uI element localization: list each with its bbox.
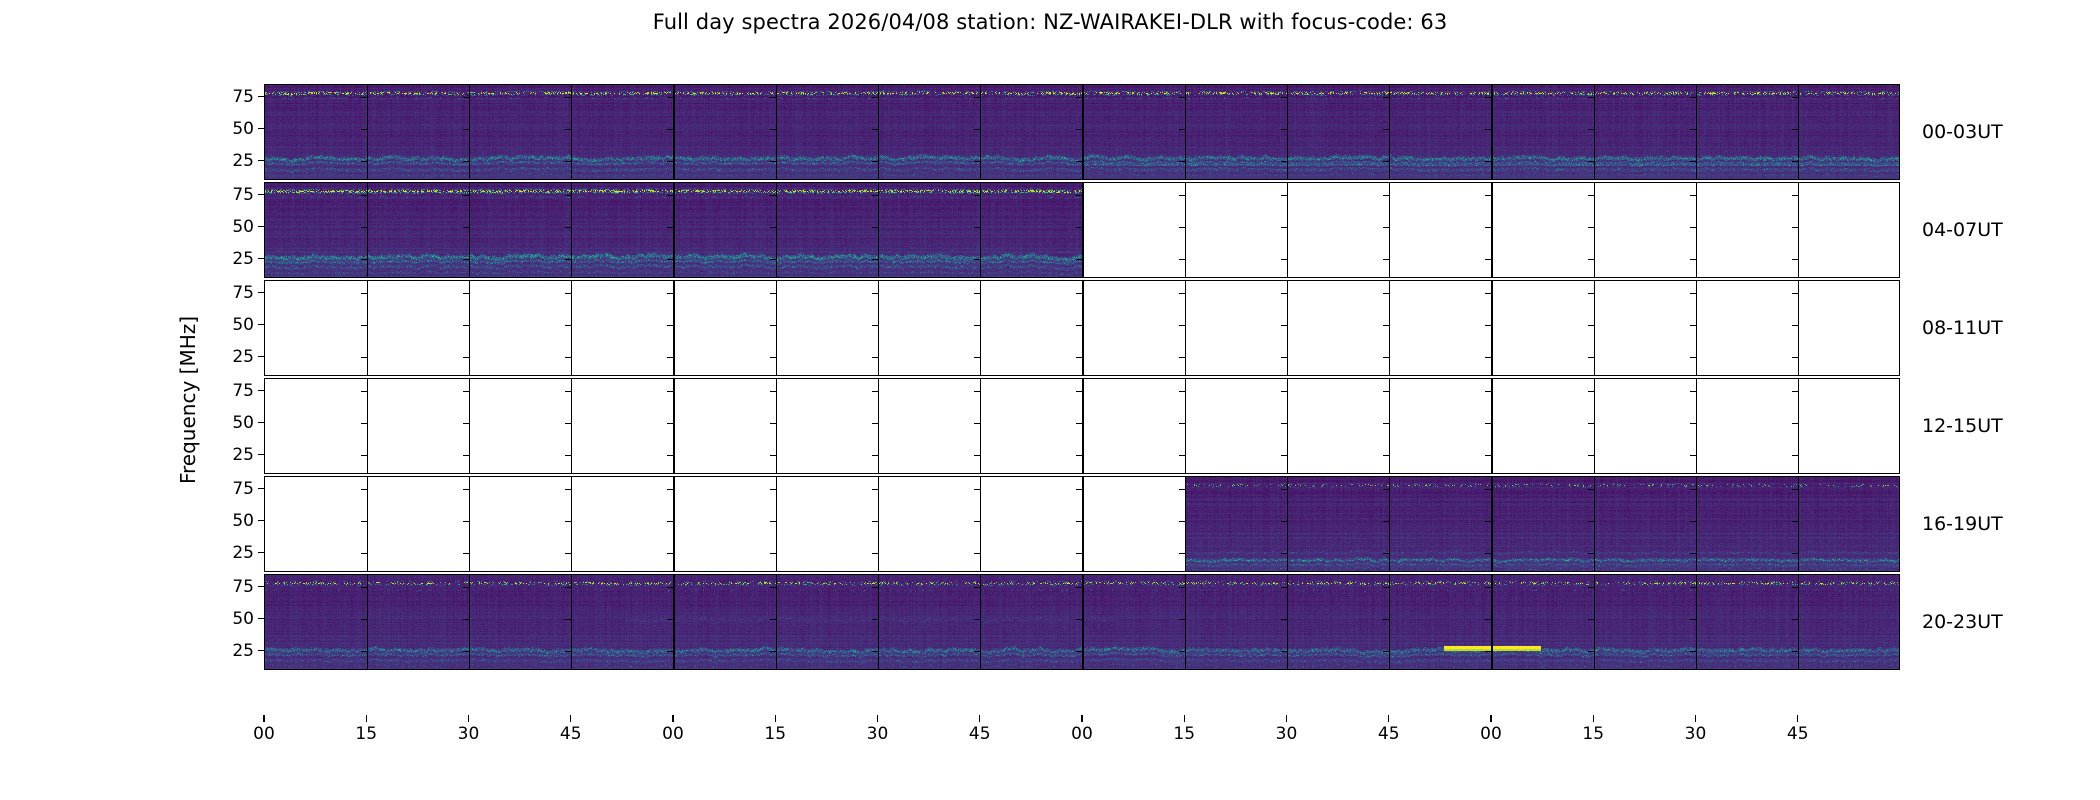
y-tick-stub [1076,357,1082,358]
panel-separator [367,85,368,179]
y-tick-stub [1690,489,1696,490]
y-tick-stub [1383,489,1389,490]
y-tick-stub [1179,619,1185,620]
y-tick-stub [974,227,980,228]
y-tick-stub [974,259,980,260]
panel-separator [1389,379,1390,473]
panel-separator [469,477,470,571]
y-tick-stub [463,587,469,588]
panel-separator [1491,85,1492,179]
y-tick-stub [1281,227,1287,228]
y-tick-stub [1076,259,1082,260]
y-tick-stub [1588,161,1594,162]
y-tick-label: 75 [232,479,254,499]
x-tick-mark [979,715,980,722]
spectrogram-row-16-19ut: 75502516-19UT [264,476,1900,572]
y-tick-stub [1076,423,1082,424]
y-tick-stub [1179,97,1185,98]
y-tick-stub [1076,619,1082,620]
x-tick-mark [1593,715,1594,722]
y-tick-stub [1383,553,1389,554]
y-tick-stub [1690,259,1696,260]
y-tick-stub [361,293,367,294]
x-tick-mark [1797,715,1798,722]
y-tick-stub [872,553,878,554]
y-tick-stub [1383,423,1389,424]
panel-separator [571,183,572,277]
y-tick-stub [667,553,673,554]
y-tick-stub [463,259,469,260]
y-tick-label: 50 [232,217,254,237]
panel-separator [776,575,777,669]
y-tick-stub [770,325,776,326]
panel-separator [367,379,368,473]
y-tick-stub [361,195,367,196]
panel-separator [571,85,572,179]
panel-separator [1594,477,1595,571]
y-tick-stub [565,357,571,358]
y-tick-stub [770,195,776,196]
y-tick-stub [463,521,469,522]
x-tick-label: 30 [867,724,889,744]
y-tick-stub [1076,587,1082,588]
y-tick-stub [770,489,776,490]
y-tick-stub [565,227,571,228]
y-tick-stub [1588,325,1594,326]
y-tick-label: 75 [232,87,254,107]
y-tick-stub [1588,489,1594,490]
panel-separator [469,183,470,277]
panel-separator [1082,477,1083,571]
panel-separator [776,85,777,179]
panel-separator [1389,575,1390,669]
y-tick-stub [1485,423,1491,424]
panel-separator [1491,281,1492,375]
y-tick-stub [872,455,878,456]
y-tick-stub [1485,357,1491,358]
panel-separator [1696,379,1697,473]
spectrogram-row-04-07ut: 75502504-07UT [264,182,1900,278]
y-tick-stub [463,129,469,130]
panel-separator [980,379,981,473]
panel-separator [1491,575,1492,669]
y-tick-stub [872,391,878,392]
y-tick-stub [1076,227,1082,228]
panel-separator [1082,85,1083,179]
panel-separator [1287,281,1288,375]
y-tick-stub [872,521,878,522]
y-tick-stub [1485,651,1491,652]
y-tick-stub [1383,587,1389,588]
y-tick-stub [1588,619,1594,620]
y-tick-stub [1076,489,1082,490]
y-tick-stub [1281,423,1287,424]
y-tick-stub [463,195,469,196]
panel-separator [673,183,674,277]
x-tick-mark [1490,715,1491,722]
y-tick-stub [1792,489,1798,490]
y-tick-stub [463,651,469,652]
y-tick-stub [1690,455,1696,456]
y-tick-stub [974,195,980,196]
y-tick-stub [1690,293,1696,294]
y-tick-stub [1485,161,1491,162]
y-tick-stub [1281,97,1287,98]
y-tick-stub [974,619,980,620]
panel-separator [878,85,879,179]
panel-separator [367,183,368,277]
y-tick-stub [1485,325,1491,326]
y-tick-stub [361,587,367,588]
y-tick-stub [565,97,571,98]
panel-separator [776,281,777,375]
y-tick-stub [974,455,980,456]
y-tick-stub [1792,129,1798,130]
y-tick-stub [667,489,673,490]
panel-separator [1082,183,1083,277]
y-tick-stub [1179,195,1185,196]
y-tick-stub [1588,587,1594,588]
y-tick-stub [565,129,571,130]
y-tick-stub [974,325,980,326]
y-tick-stub [1179,423,1185,424]
panel-separator [1798,477,1799,571]
y-tick-stub [1383,391,1389,392]
panel-separator [1185,575,1186,669]
y-tick-stub [1383,357,1389,358]
panel-separator [1798,183,1799,277]
y-tick-stub [565,423,571,424]
y-tick-stub [667,227,673,228]
panel-separator [1594,183,1595,277]
x-tick-label: 30 [1685,724,1707,744]
y-tick-stub [1485,521,1491,522]
y-tick-stub [667,357,673,358]
y-tick-stub [770,587,776,588]
y-tick-label: 25 [232,445,254,465]
y-tick-stub [1690,325,1696,326]
y-tick-stub [667,619,673,620]
y-tick-stub [1076,651,1082,652]
panel-separator [367,477,368,571]
y-tick-stub [1179,455,1185,456]
spectrogram-row-12-15ut: 75502512-15UT [264,378,1900,474]
y-tick-stub [361,619,367,620]
panel-separator [1185,281,1186,375]
y-tick-stub [1690,587,1696,588]
panel-separator [469,85,470,179]
y-tick-stub [770,619,776,620]
y-tick-stub [1792,651,1798,652]
y-tick-stub [1792,357,1798,358]
panel-separator [1287,575,1288,669]
y-tick-label: 50 [232,315,254,335]
x-tick-label: 15 [1173,724,1195,744]
y-tick-stub [361,455,367,456]
y-tick-stub [667,129,673,130]
y-tick-stub [770,553,776,554]
y-tick-stub [1383,195,1389,196]
y-tick-stub [872,161,878,162]
y-tick-label: 75 [232,185,254,205]
y-tick-stub [1281,161,1287,162]
y-tick-stub [1179,521,1185,522]
y-tick-stub [565,293,571,294]
y-tick-stub [872,97,878,98]
panel-separator [673,281,674,375]
spectrogram-image [1185,477,1900,572]
panel-separator [1696,85,1697,179]
page-title: Full day spectra 2026/04/08 station: NZ-… [0,10,2100,34]
panel-separator [980,477,981,571]
y-tick-stub [1179,293,1185,294]
y-tick-stub [1485,259,1491,260]
y-tick-stub [361,521,367,522]
panel-separator [367,575,368,669]
y-tick-stub [770,97,776,98]
y-tick-stub [1383,293,1389,294]
y-tick-stub [667,195,673,196]
y-tick-stub [1588,521,1594,522]
y-tick-stub [1281,619,1287,620]
row-plot-area[interactable] [264,280,1900,376]
y-tick-stub [974,161,980,162]
y-tick-stub [1076,195,1082,196]
panel-separator [1287,477,1288,571]
y-tick-stub [1281,259,1287,260]
x-tick-label: 15 [1582,724,1604,744]
panel-separator [1389,281,1390,375]
y-tick-stub [463,489,469,490]
y-tick-stub [974,521,980,522]
y-tick-stub [1383,521,1389,522]
y-tick-stub [770,161,776,162]
y-tick-stub [872,619,878,620]
panel-separator [1798,85,1799,179]
panel-separator [469,575,470,669]
y-tick-stub [667,455,673,456]
y-tick-stub [565,325,571,326]
y-tick-stub [463,619,469,620]
y-tick-stub [1588,455,1594,456]
panel-separator [1185,85,1186,179]
y-tick-stub [1485,455,1491,456]
panel-separator [1287,85,1288,179]
y-tick-stub [361,325,367,326]
panel-separator [776,379,777,473]
row-label-12-15ut: 12-15UT [1922,415,2003,437]
y-tick-stub [1690,97,1696,98]
row-plot-area[interactable] [264,574,1900,670]
spectrogram-row-08-11ut: 75502508-11UT [264,280,1900,376]
y-tick-stub [872,129,878,130]
panel-separator [980,85,981,179]
y-tick-stub [974,423,980,424]
y-tick-stub [1383,619,1389,620]
y-tick-stub [872,587,878,588]
y-tick-label: 25 [232,543,254,563]
y-tick-stub [872,651,878,652]
x-tick-label: 45 [1787,724,1809,744]
x-tick-mark [1388,715,1389,722]
y-tick-stub [1179,553,1185,554]
y-tick-stub [1792,325,1798,326]
panel-separator [1389,85,1390,179]
y-tick-stub [1690,357,1696,358]
panel-separator [878,379,879,473]
y-tick-stub [463,161,469,162]
x-tick-label: 00 [1480,724,1502,744]
y-tick-stub [463,553,469,554]
y-tick-stub [1588,651,1594,652]
y-tick-stub [1281,391,1287,392]
y-tick-stub [463,227,469,228]
y-tick-stub [1792,455,1798,456]
y-tick-stub [872,195,878,196]
y-tick-stub [1179,161,1185,162]
x-axis: 00153045001530450015304500153045 [264,722,1900,762]
y-tick-stub [974,357,980,358]
y-tick-stub [1690,651,1696,652]
panel-separator [1594,281,1595,375]
y-tick-stub [1588,227,1594,228]
spectrogram-figure: Full day spectra 2026/04/08 station: NZ-… [0,0,2100,800]
y-tick-stub [1179,325,1185,326]
panel-separator [1696,281,1697,375]
y-tick-stub [1485,97,1491,98]
y-tick-label: 25 [232,347,254,367]
y-tick-stub [1485,293,1491,294]
y-tick-stub [1690,129,1696,130]
row-label-00-03ut: 00-03UT [1922,121,2003,143]
y-tick-label: 25 [232,151,254,171]
y-tick-stub [974,293,980,294]
y-tick-stub [361,553,367,554]
y-tick-stub [770,227,776,228]
y-tick-stub [463,455,469,456]
x-tick-mark [1081,715,1082,722]
x-tick-mark [1695,715,1696,722]
y-tick-stub [1281,587,1287,588]
y-tick-stub [1281,293,1287,294]
panel-separator [469,379,470,473]
y-tick-stub [361,227,367,228]
y-tick-stub [770,423,776,424]
y-tick-stub [361,489,367,490]
row-plot-area[interactable] [264,378,1900,474]
y-tick-stub [1383,455,1389,456]
y-tick-stub [1383,97,1389,98]
panel-separator [1491,183,1492,277]
y-tick-stub [1179,129,1185,130]
y-tick-stub [1076,161,1082,162]
y-tick-stub [872,259,878,260]
y-tick-stub [1076,553,1082,554]
y-tick-stub [1076,455,1082,456]
y-tick-stub [361,97,367,98]
y-tick-stub [1792,195,1798,196]
panel-separator [1594,575,1595,669]
y-tick-stub [361,357,367,358]
y-tick-label: 50 [232,511,254,531]
y-tick-stub [1792,553,1798,554]
panel-separator [1082,575,1083,669]
y-tick-stub [1383,129,1389,130]
x-tick-label: 45 [560,724,582,744]
y-tick-stub [1076,97,1082,98]
panel-separator [1696,477,1697,571]
y-tick-stub [667,259,673,260]
panel-separator [1491,477,1492,571]
y-tick-stub [872,357,878,358]
y-tick-stub [1485,227,1491,228]
y-tick-stub [1792,391,1798,392]
row-label-04-07ut: 04-07UT [1922,219,2003,241]
x-tick-label: 15 [355,724,377,744]
panel-separator [1185,379,1186,473]
panel-separator [571,379,572,473]
y-tick-stub [1792,161,1798,162]
y-tick-stub [1179,259,1185,260]
x-tick-label: 30 [1276,724,1298,744]
y-tick-stub [1588,553,1594,554]
y-tick-stub [1792,423,1798,424]
y-tick-stub [463,357,469,358]
y-tick-stub [1792,619,1798,620]
row-plot-area[interactable] [264,182,1900,278]
y-tick-stub [770,357,776,358]
x-tick-mark [366,715,367,722]
y-tick-stub [1281,325,1287,326]
x-tick-mark [672,715,673,722]
y-tick-stub [667,423,673,424]
row-label-20-23ut: 20-23UT [1922,611,2003,633]
y-tick-stub [1588,391,1594,392]
y-tick-stub [1588,357,1594,358]
y-tick-stub [565,259,571,260]
y-tick-stub [770,455,776,456]
panel-separator [1594,85,1595,179]
y-tick-stub [1179,651,1185,652]
y-tick-stub [770,129,776,130]
y-tick-stub [1383,227,1389,228]
y-tick-stub [463,423,469,424]
y-tick-stub [1792,587,1798,588]
y-tick-stub [1485,195,1491,196]
x-tick-mark [1184,715,1185,722]
y-tick-stub [872,489,878,490]
y-tick-stub [1076,129,1082,130]
y-tick-stub [667,161,673,162]
y-tick-stub [1792,293,1798,294]
row-plot-area[interactable] [264,476,1900,572]
panel-separator [1491,379,1492,473]
y-tick-stub [1281,651,1287,652]
y-tick-stub [974,391,980,392]
row-plot-area[interactable] [264,84,1900,180]
y-tick-stub [1281,521,1287,522]
y-tick-stub [1076,521,1082,522]
y-tick-label: 50 [232,119,254,139]
x-tick-mark [877,715,878,722]
y-tick-stub [1281,195,1287,196]
panel-separator [1798,575,1799,669]
spectrogram-row-00-03ut: 75502500-03UT [264,84,1900,180]
y-tick-stub [872,227,878,228]
y-tick-stub [1485,587,1491,588]
y-tick-stub [1281,489,1287,490]
y-tick-stub [565,489,571,490]
